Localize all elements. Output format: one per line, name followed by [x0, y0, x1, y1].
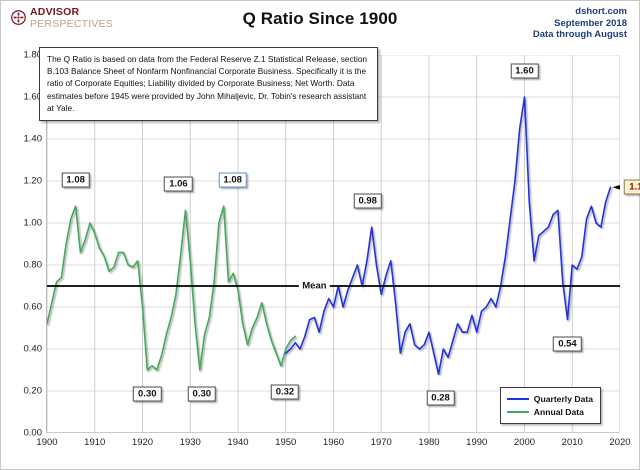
legend-swatch-icon	[507, 398, 529, 400]
y-tick-0.80: 0.80	[24, 260, 43, 271]
callout-1906: 1.08	[61, 173, 90, 188]
x-tick-1960: 1960	[323, 437, 344, 448]
callout-1949: 0.32	[271, 384, 300, 399]
x-tick-1930: 1930	[180, 437, 201, 448]
x-tick-1990: 1990	[466, 437, 487, 448]
chart-page: ADVISOR PERSPECTIVES Q Ratio Since 1900 …	[0, 0, 640, 470]
legend-item-1: Annual Data	[507, 405, 593, 418]
x-tick-1970: 1970	[371, 437, 392, 448]
legend-item-0: Quarterly Data	[507, 392, 593, 405]
source-data-through: Data through August	[533, 29, 627, 41]
chart-plot-area: 0.000.200.400.600.801.001.201.401.601.80…	[46, 55, 619, 433]
callout-1968: 0.98	[353, 194, 382, 209]
x-tick-1910: 1910	[84, 437, 105, 448]
y-tick-0.40: 0.40	[24, 344, 43, 355]
y-tick-1.40: 1.40	[24, 134, 43, 145]
legend-label: Quarterly Data	[534, 394, 593, 404]
source-block: dshort.com September 2018 Data through A…	[533, 6, 627, 41]
x-tick-1900: 1900	[36, 437, 57, 448]
y-tick-1.20: 1.20	[24, 176, 43, 187]
callout-1929: 1.06	[164, 177, 193, 192]
callout-1932: 0.30	[188, 387, 217, 402]
x-tick-2010: 2010	[562, 437, 583, 448]
x-tick-1920: 1920	[132, 437, 153, 448]
y-tick-0.60: 0.60	[24, 302, 43, 313]
y-tick-1.00: 1.00	[24, 218, 43, 229]
callout-1937: 1.08	[218, 173, 247, 188]
methodology-note: The Q Ratio is based on data from the Fe…	[39, 47, 378, 121]
callout-2000: 1.60	[510, 64, 539, 79]
y-tick-0.20: 0.20	[24, 386, 43, 397]
legend-label: Annual Data	[534, 407, 584, 417]
callout-1921: 0.30	[133, 387, 162, 402]
source-site: dshort.com	[533, 6, 627, 18]
x-tick-1950: 1950	[275, 437, 296, 448]
callout-2018: 1.17	[624, 180, 640, 195]
x-tick-1940: 1940	[227, 437, 248, 448]
chart-legend: Quarterly DataAnnual Data	[500, 387, 601, 424]
callout-1982: 0.28	[426, 391, 455, 406]
x-tick-2000: 2000	[514, 437, 535, 448]
source-date: September 2018	[533, 18, 627, 30]
callout-2009: 0.54	[553, 336, 582, 351]
x-tick-2020: 2020	[609, 437, 630, 448]
x-tick-1980: 1980	[418, 437, 439, 448]
mean-line-label: Mean	[299, 281, 329, 292]
legend-swatch-icon	[507, 411, 529, 413]
